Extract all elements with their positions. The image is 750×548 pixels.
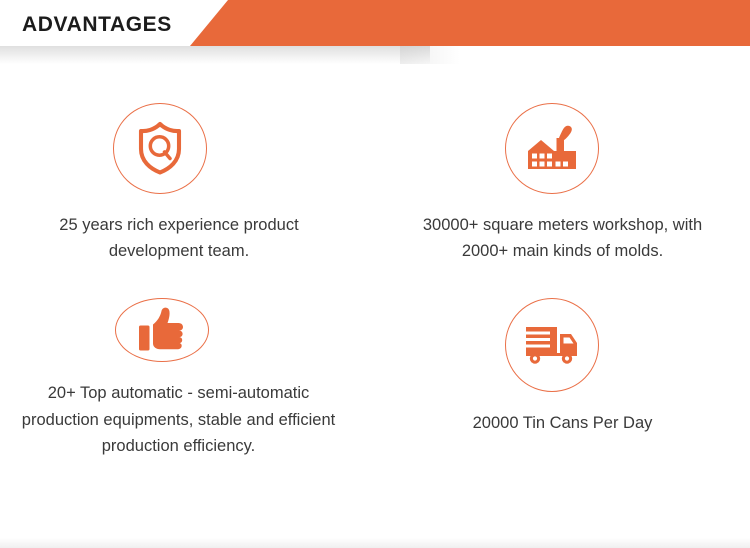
advantage-text-4: 20000 Tin Cans Per Day: [398, 410, 728, 437]
advantage-item-4: 20000 Tin Cans Per Day: [375, 265, 750, 460]
header-accent-banner: [190, 0, 750, 46]
advantage-item-1: 25 years rich experience product develop…: [0, 70, 375, 265]
advantage-item-2: 30000+ square meters workshop, with 2000…: [375, 70, 750, 265]
advantage-text-2: 30000+ square meters workshop, with 2000…: [398, 212, 728, 265]
advantages-grid: 25 years rich experience product develop…: [0, 70, 750, 525]
advantages-page: ADVANTAGES 25 years rich experience prod…: [0, 0, 750, 548]
thumbs-up-icon: [115, 298, 209, 362]
header-drop-shadow: [0, 46, 430, 64]
page-header: ADVANTAGES: [0, 0, 750, 46]
advantage-item-3: 20+ Top automatic - semi-automatic produ…: [0, 265, 375, 460]
delivery-truck-icon: [505, 298, 599, 392]
advantage-text-1: 25 years rich experience product develop…: [14, 212, 344, 265]
shield-quality-icon: [113, 103, 207, 194]
header-drop-shadow-fade: [400, 46, 460, 64]
factory-icon: [505, 103, 599, 194]
advantage-text-3: 20+ Top automatic - semi-automatic produ…: [14, 380, 344, 460]
page-bottom-shadow: [0, 538, 750, 548]
page-title: ADVANTAGES: [22, 13, 172, 37]
